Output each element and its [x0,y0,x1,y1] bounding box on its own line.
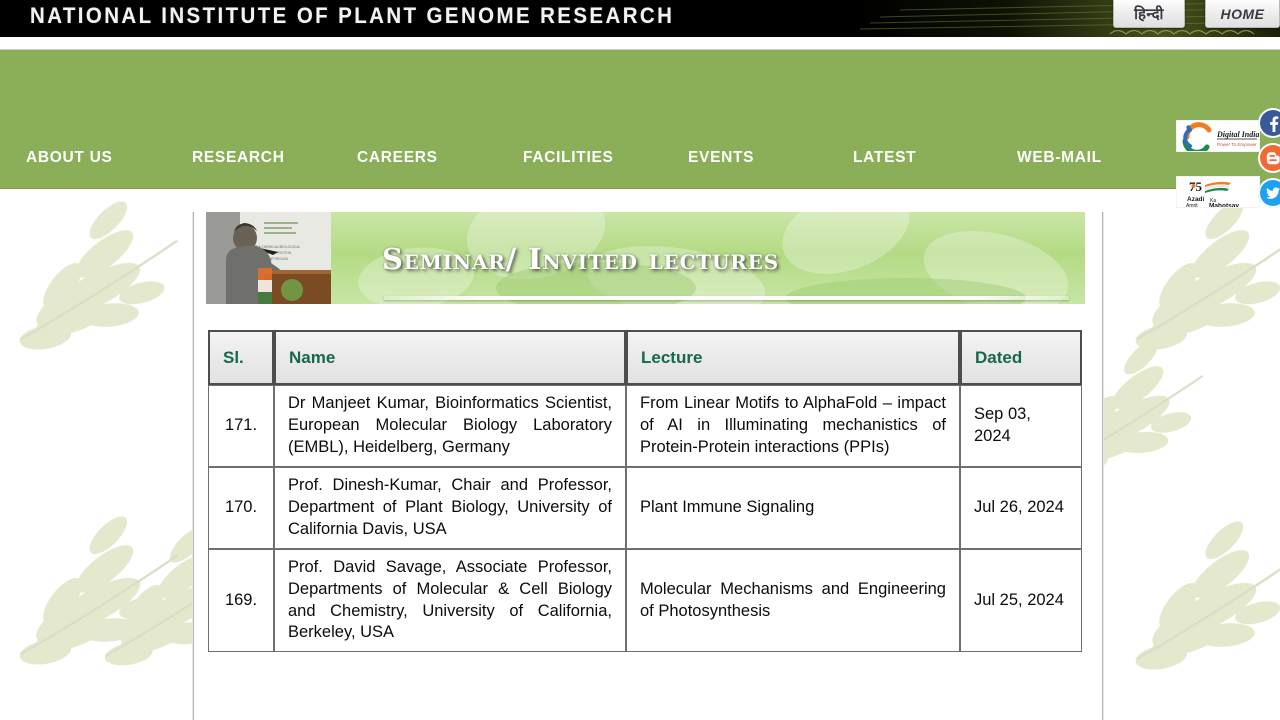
row-serial: 170. [208,467,274,549]
row-lecture: From Linear Motifs to AlphaFold – impact… [626,385,960,467]
row-name: Prof. Dinesh-Kumar, Chair and Professor,… [274,467,626,549]
row-name: Prof. David Savage, Associate Professor,… [274,549,626,653]
column-header-lecture[interactable]: Lecture [626,330,960,385]
blogger-icon[interactable] [1258,143,1280,173]
svg-text:Power To Empower: Power To Empower [1217,142,1257,147]
nav-facilities[interactable]: FACILITIES [523,149,614,167]
nav-events[interactable]: EVENTS [688,149,754,167]
svg-text:Amrit: Amrit [1186,203,1198,208]
svg-text:75: 75 [1189,179,1203,194]
site-title: NATIONAL INSTITUTE OF PLANT GENOME RESEA… [30,3,674,29]
home-button[interactable]: HOME [1205,0,1280,28]
row-lecture: Molecular Mechanisms and Engineering of … [626,549,960,653]
table-head: Sl. Name Lecture Dated [208,330,1082,385]
page-banner: PPI IS A CHEMICAL/BIOLOGICAL ABILITY TO … [206,212,1085,304]
column-header-sl[interactable]: Sl. [208,330,274,385]
nav-about-us[interactable]: ABOUT US [26,149,113,167]
page-root: NATIONAL INSTITUTE OF PLANT GENOME RESEA… [0,0,1280,720]
content-container: PPI IS A CHEMICAL/BIOLOGICAL ABILITY TO … [193,212,1103,720]
speaker-photo: PPI IS A CHEMICAL/BIOLOGICAL ABILITY TO … [206,212,331,304]
row-serial: 169. [208,549,274,653]
hindi-language-button[interactable]: हिन्दी [1113,0,1185,28]
table-body: 171.Dr Manjeet Kumar, Bioinformatics Sci… [208,385,1082,652]
table-row: 169.Prof. David Savage, Associate Profes… [208,549,1082,653]
nav-careers[interactable]: CAREERS [357,149,438,167]
digital-india-logo[interactable]: Digital India Power To Empower [1176,120,1260,152]
row-name: Dr Manjeet Kumar, Bioinformatics Scienti… [274,385,626,467]
svg-text:Digital India: Digital India [1216,130,1259,139]
azadi-ka-amrit-mahotsav-logo[interactable]: 75 Azadi Ka Amrit Mahotsav [1176,176,1260,208]
table-row: 171.Dr Manjeet Kumar, Bioinformatics Sci… [208,385,1082,467]
column-header-dated[interactable]: Dated [960,330,1082,385]
svg-text:Azadi: Azadi [1187,196,1205,203]
svg-text:Mahotsav: Mahotsav [1209,203,1239,209]
banner-title: Seminar/ Invited lectures [382,242,779,276]
lectures-table: Sl. Name Lecture Dated 171.Dr Manjeet Ku… [208,330,1082,652]
row-serial: 171. [208,385,274,467]
nav-web-mail[interactable]: WEB-MAIL [1017,149,1102,167]
row-dated: Jul 25, 2024 [960,549,1082,653]
facebook-icon[interactable] [1258,108,1280,138]
site-header: NATIONAL INSTITUTE OF PLANT GENOME RESEA… [0,0,1280,37]
banner-underline [384,296,1069,300]
table-row: 170.Prof. Dinesh-Kumar, Chair and Profes… [208,467,1082,549]
row-dated: Sep 03, 2024 [960,385,1082,467]
nav-latest[interactable]: LATEST [853,149,916,167]
main-navigation: ABOUT USRESEARCHCAREERSFACILITIESEVENTSL… [0,50,1280,189]
row-dated: Jul 26, 2024 [960,467,1082,549]
table-header-row: Sl. Name Lecture Dated [208,330,1082,385]
twitter-icon[interactable] [1258,178,1280,208]
header-divider [0,37,1280,50]
column-header-name[interactable]: Name [274,330,626,385]
row-lecture: Plant Immune Signaling [626,467,960,549]
nav-item-list: ABOUT USRESEARCHCAREERSFACILITIESEVENTSL… [0,50,1125,189]
nav-research[interactable]: RESEARCH [192,149,285,167]
